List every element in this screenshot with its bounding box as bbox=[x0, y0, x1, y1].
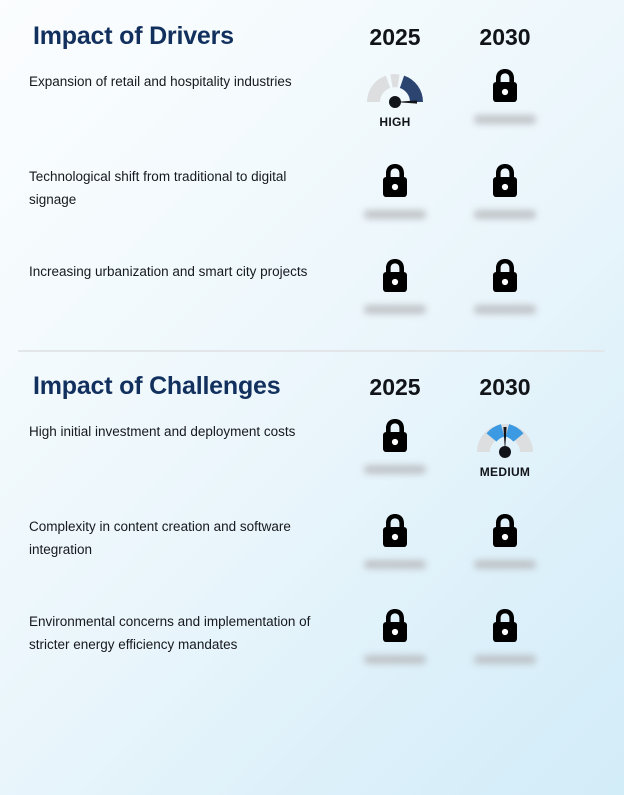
locked-value bbox=[345, 606, 445, 664]
page-title-drivers: Impact of Drivers bbox=[33, 22, 234, 51]
column-header-2030-drivers: 2030 bbox=[455, 24, 555, 51]
impact-matrix-page: Impact of Drivers 2025 2030 Expansion of… bbox=[0, 0, 624, 795]
locked-value bbox=[455, 66, 555, 124]
section-drivers: Impact of Drivers 2025 2030 Expansion of… bbox=[0, 0, 624, 347]
row-label: Expansion of retail and hospitality indu… bbox=[29, 70, 329, 93]
blurred-placeholder-bar bbox=[364, 210, 426, 219]
cell-2030: MEDIUM bbox=[455, 412, 555, 507]
cell-2025 bbox=[345, 412, 445, 507]
locked-value bbox=[345, 161, 445, 219]
cell-2025 bbox=[345, 252, 445, 347]
locked-value bbox=[345, 416, 445, 474]
cell-2030 bbox=[455, 507, 555, 602]
lock-icon bbox=[488, 606, 522, 646]
locked-value bbox=[345, 256, 445, 314]
blurred-placeholder-bar bbox=[474, 560, 536, 569]
section-header-drivers: Impact of Drivers 2025 2030 bbox=[0, 0, 624, 62]
row-label: Technological shift from traditional to … bbox=[29, 165, 329, 211]
rows-drivers: Expansion of retail and hospitality indu… bbox=[0, 62, 624, 347]
row-label: High initial investment and deployment c… bbox=[29, 420, 329, 443]
blurred-placeholder-bar bbox=[364, 305, 426, 314]
lock-icon bbox=[488, 66, 522, 106]
cell-2030 bbox=[455, 602, 555, 697]
page-title-challenges: Impact of Challenges bbox=[33, 372, 280, 401]
table-row: Complexity in content creation and softw… bbox=[0, 507, 624, 602]
locked-value bbox=[455, 161, 555, 219]
row-label: Increasing urbanization and smart city p… bbox=[29, 260, 329, 283]
lock-icon bbox=[378, 256, 412, 296]
gauge-icon bbox=[474, 412, 536, 462]
blurred-placeholder-bar bbox=[364, 655, 426, 664]
locked-value bbox=[455, 511, 555, 569]
table-row: Expansion of retail and hospitality indu… bbox=[0, 62, 624, 157]
gauge-icon bbox=[364, 62, 426, 112]
cell-2030 bbox=[455, 157, 555, 252]
lock-icon bbox=[488, 511, 522, 551]
table-row: Increasing urbanization and smart city p… bbox=[0, 252, 624, 347]
lock-icon bbox=[488, 256, 522, 296]
cell-2025 bbox=[345, 507, 445, 602]
lock-icon bbox=[488, 161, 522, 201]
cell-2030 bbox=[455, 62, 555, 157]
row-label: Complexity in content creation and softw… bbox=[29, 515, 329, 561]
blurred-placeholder-bar bbox=[474, 210, 536, 219]
column-header-2030-challenges: 2030 bbox=[455, 374, 555, 401]
cell-2025 bbox=[345, 602, 445, 697]
section-header-challenges: Impact of Challenges 2025 2030 bbox=[0, 350, 624, 412]
rows-challenges: High initial investment and deployment c… bbox=[0, 412, 624, 697]
cell-2025: HIGH bbox=[345, 62, 445, 157]
gauge-level-label: MEDIUM bbox=[455, 465, 555, 479]
blurred-placeholder-bar bbox=[364, 560, 426, 569]
gauge-medium: MEDIUM bbox=[455, 412, 555, 479]
locked-value bbox=[455, 606, 555, 664]
locked-value bbox=[455, 256, 555, 314]
lock-icon bbox=[378, 606, 412, 646]
cell-2030 bbox=[455, 252, 555, 347]
lock-icon bbox=[378, 511, 412, 551]
blurred-placeholder-bar bbox=[474, 305, 536, 314]
gauge-level-label: HIGH bbox=[345, 115, 445, 129]
table-row: Environmental concerns and implementatio… bbox=[0, 602, 624, 697]
table-row: High initial investment and deployment c… bbox=[0, 412, 624, 507]
blurred-placeholder-bar bbox=[474, 115, 536, 124]
gauge-high: HIGH bbox=[345, 62, 445, 129]
blurred-placeholder-bar bbox=[364, 465, 426, 474]
column-header-2025-drivers: 2025 bbox=[345, 24, 445, 51]
section-challenges: Impact of Challenges 2025 2030 High init… bbox=[0, 350, 624, 697]
column-header-2025-challenges: 2025 bbox=[345, 374, 445, 401]
locked-value bbox=[345, 511, 445, 569]
row-label: Environmental concerns and implementatio… bbox=[29, 610, 329, 656]
lock-icon bbox=[378, 416, 412, 456]
blurred-placeholder-bar bbox=[474, 655, 536, 664]
lock-icon bbox=[378, 161, 412, 201]
cell-2025 bbox=[345, 157, 445, 252]
table-row: Technological shift from traditional to … bbox=[0, 157, 624, 252]
